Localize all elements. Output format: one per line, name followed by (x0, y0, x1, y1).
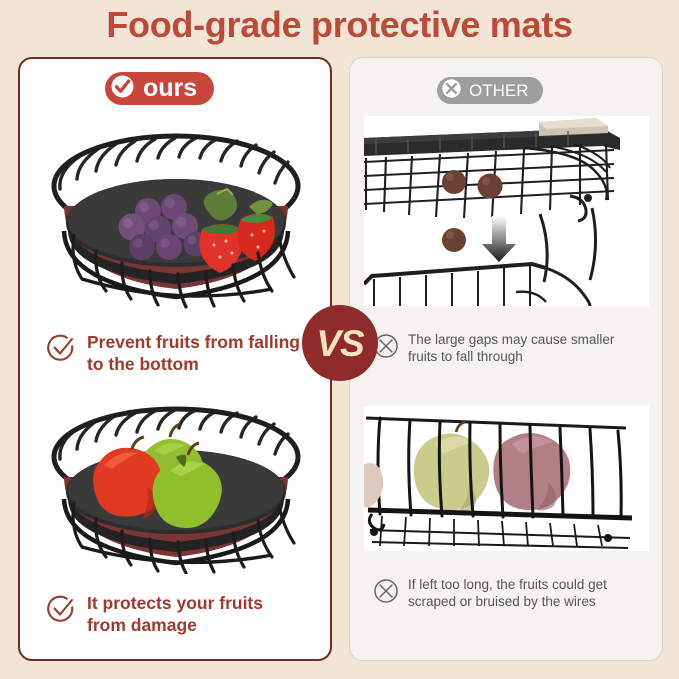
check-circle-outline-icon (46, 333, 76, 368)
x-circle-outline-icon (373, 578, 399, 609)
ours-photo-bottom (36, 389, 316, 574)
check-circle-outline-icon (46, 594, 76, 629)
other-caption-1: The large gaps may cause smaller fruits … (373, 331, 614, 365)
ours-caption-2-text: It protects your fruits from damage (87, 592, 263, 636)
other-photo-top (364, 116, 649, 306)
vs-label: VS (316, 325, 363, 362)
ours-panel: ours (18, 57, 332, 661)
other-photo-bottom (364, 406, 649, 551)
vs-badge: VS (302, 305, 378, 381)
x-circle-icon (441, 78, 462, 104)
other-badge: OTHER (437, 77, 543, 104)
other-caption-2-text: If left too long, the fruits could get s… (408, 576, 607, 610)
page-title: Food-grade protective mats (0, 4, 679, 46)
other-badge-label: OTHER (469, 82, 529, 99)
check-circle-icon (110, 74, 135, 104)
ours-photo-top (36, 111, 316, 319)
ours-caption-1-text: Prevent fruits from falling to the botto… (87, 331, 300, 375)
other-caption-1-text: The large gaps may cause smaller fruits … (408, 331, 614, 365)
ours-badge: ours (105, 72, 214, 105)
other-caption-2: If left too long, the fruits could get s… (373, 576, 607, 610)
ours-badge-label: ours (143, 76, 197, 101)
ours-caption-1: Prevent fruits from falling to the botto… (46, 331, 300, 375)
other-panel: OTHER (349, 57, 663, 661)
ours-caption-2: It protects your fruits from damage (46, 592, 263, 636)
